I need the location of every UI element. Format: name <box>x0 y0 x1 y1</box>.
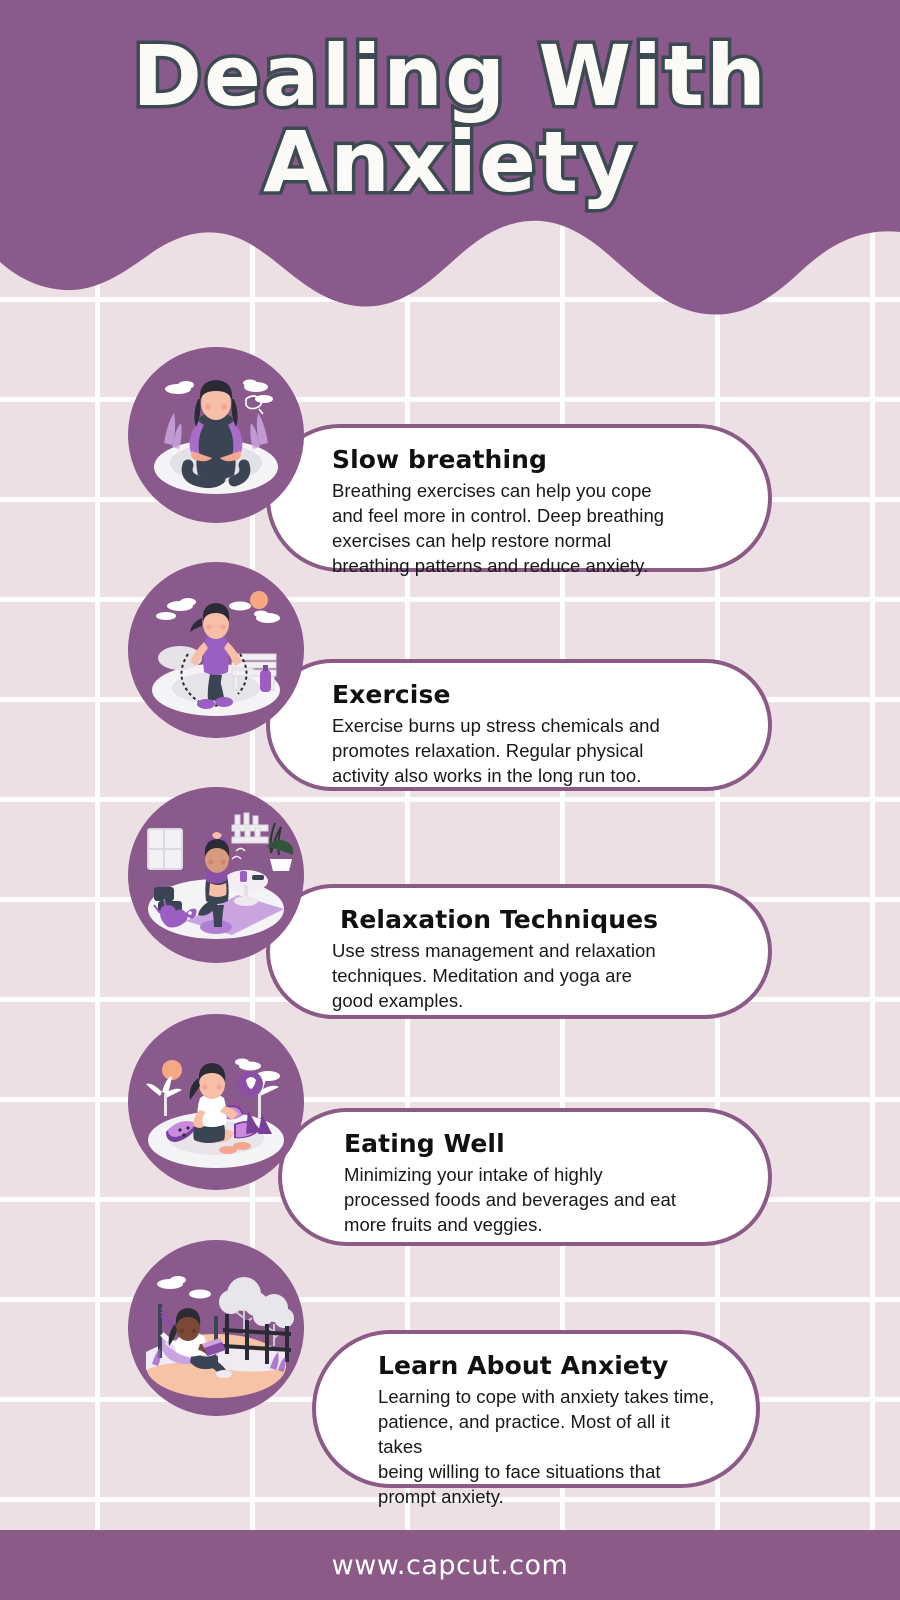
card-body: Exercise burns up stress chemicals and p… <box>332 713 728 788</box>
card-body: Learning to cope with anxiety takes time… <box>378 1384 716 1510</box>
infographic-poster: Dealing With Anxiety <box>0 0 900 1600</box>
tip-card[interactable]: Slow breathing Breathing exercises can h… <box>266 424 772 572</box>
woman-yoga-tree-pose-icon <box>128 787 304 963</box>
card-body: Breathing exercises can help you cope an… <box>332 478 728 579</box>
card-title: Exercise <box>332 681 728 710</box>
woman-reading-hammock-icon <box>128 1240 304 1416</box>
tip-card[interactable]: Learn About Anxiety Learning to cope wit… <box>312 1330 760 1488</box>
tip-card[interactable]: Relaxation Techniques Use stress managem… <box>266 884 772 1019</box>
woman-meditating-icon <box>128 347 304 523</box>
woman-eating-watermelon-icon <box>128 1014 304 1190</box>
card-body: Use stress management and relaxation tec… <box>332 938 728 1013</box>
tip-card[interactable]: Exercise Exercise burns up stress chemic… <box>266 659 772 791</box>
card-body: Minimizing your intake of highly process… <box>344 1162 728 1237</box>
card-title: Eating Well <box>344 1130 728 1159</box>
footer-bar: www.capcut.com <box>0 1530 900 1600</box>
tip-card[interactable]: Eating Well Minimizing your intake of hi… <box>278 1108 772 1246</box>
card-title: Learn About Anxiety <box>378 1352 716 1381</box>
card-title: Relaxation Techniques <box>332 906 728 935</box>
header-banner <box>0 0 900 330</box>
woman-jumping-rope-icon <box>128 562 304 738</box>
card-title: Slow breathing <box>332 446 728 475</box>
footer-url[interactable]: www.capcut.com <box>332 1550 569 1581</box>
